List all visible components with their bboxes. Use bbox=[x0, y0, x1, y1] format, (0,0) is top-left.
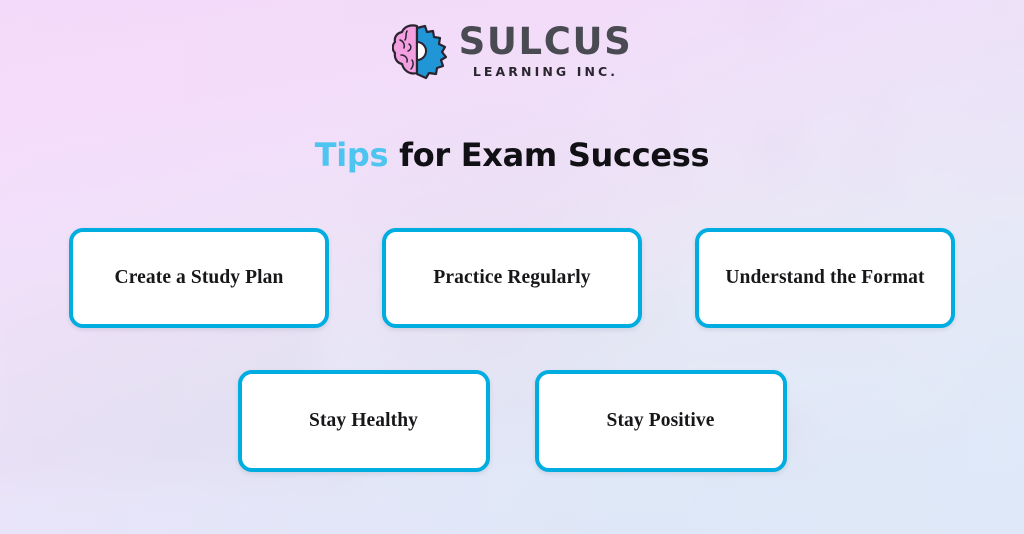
tip-card[interactable]: Stay Positive bbox=[535, 370, 787, 472]
content-layer: SULCUS LEARNING INC. Tips for Exam Succe… bbox=[0, 0, 1024, 534]
tip-card[interactable]: Understand the Format bbox=[695, 228, 955, 328]
brand-logo: SULCUS LEARNING INC. bbox=[0, 22, 1024, 80]
infographic-page: SULCUS LEARNING INC. Tips for Exam Succe… bbox=[0, 0, 1024, 534]
brand-wordmark: SULCUS LEARNING INC. bbox=[459, 23, 633, 79]
tip-card-label: Understand the Format bbox=[709, 265, 940, 291]
brand-tagline: LEARNING INC. bbox=[459, 66, 633, 79]
tips-row-1: Create a Study Plan Practice Regularly U… bbox=[0, 228, 1024, 328]
tip-card-label: Stay Healthy bbox=[293, 408, 434, 434]
tip-card[interactable]: Stay Healthy bbox=[238, 370, 490, 472]
brain-gear-icon bbox=[392, 22, 448, 80]
page-title-accent: Tips bbox=[315, 136, 389, 174]
tip-card-label: Create a Study Plan bbox=[99, 265, 300, 291]
tip-card[interactable]: Practice Regularly bbox=[382, 228, 642, 328]
tip-card-label: Practice Regularly bbox=[417, 265, 606, 291]
page-title-rest: for Exam Success bbox=[388, 136, 709, 174]
tip-card-label: Stay Positive bbox=[591, 408, 731, 434]
tips-row-2: Stay Healthy Stay Positive bbox=[0, 370, 1024, 472]
brand-name: SULCUS bbox=[459, 23, 633, 60]
tip-card[interactable]: Create a Study Plan bbox=[69, 228, 329, 328]
page-title: Tips for Exam Success bbox=[0, 136, 1024, 174]
